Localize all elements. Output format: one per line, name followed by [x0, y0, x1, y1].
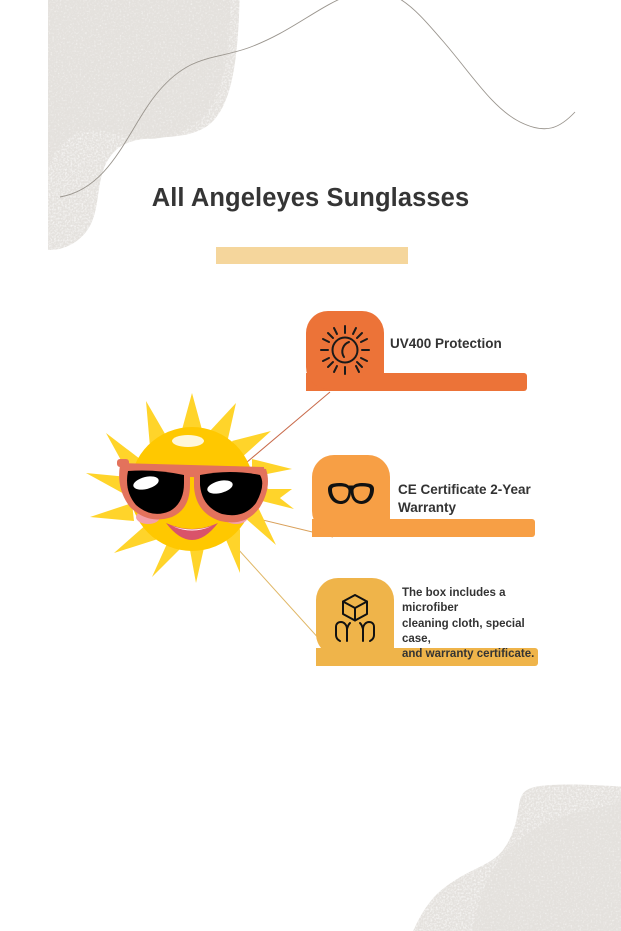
feature-label: CE Certificate 2-Year Warranty	[398, 481, 542, 517]
hands-holding-box-icon	[327, 589, 383, 645]
sun-icon	[317, 322, 373, 378]
feature-label: UV400 Protection	[390, 335, 502, 353]
feature-item-uv400[interactable]: UV400 Protection	[306, 311, 536, 391]
sun-highlight	[172, 435, 204, 447]
feature-item-box-contents[interactable]: The box includes a microfiber cleaning c…	[316, 578, 546, 666]
feature-item-ce-certificate[interactable]: CE Certificate 2-Year Warranty	[312, 455, 542, 537]
sun-mascot	[86, 393, 298, 583]
infographic-page: All Angeleyes Sunglasses	[0, 0, 621, 931]
feature-label: The box includes a microfiber cleaning c…	[402, 586, 546, 662]
eyeglasses-icon	[323, 466, 379, 522]
